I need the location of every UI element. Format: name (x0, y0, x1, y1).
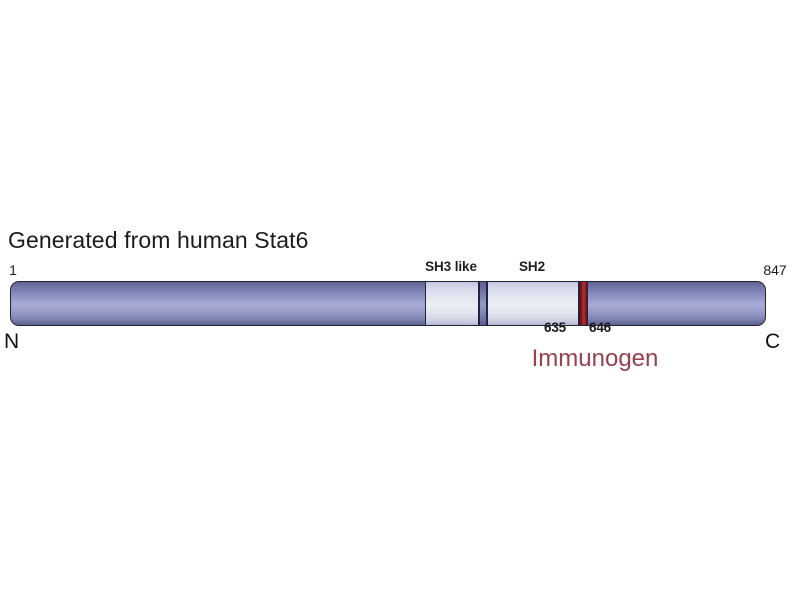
residue-end-label: 847 (755, 262, 795, 278)
immunogen-caption: Immunogen (515, 345, 675, 373)
domain-separator-slit (479, 282, 487, 325)
n-terminus-label: N (4, 330, 19, 354)
protein-domain-figure: Generated from human Stat6 1 847 SH3 lik… (0, 0, 800, 600)
domain-label-sh2: SH2 (497, 259, 567, 274)
epitope-end-residue-label: 646 (578, 320, 622, 335)
domain-label-sh3-like: SH3 like (391, 259, 511, 274)
protein-bar-container (10, 281, 766, 326)
domain-block-sh3-like (425, 282, 479, 325)
page-title: Generated from human Stat6 (8, 227, 309, 254)
residue-start-label: 1 (2, 262, 24, 278)
protein-backbone-bar (10, 281, 766, 326)
epitope-start-residue-label: 635 (533, 320, 577, 335)
c-terminus-label: C (765, 330, 780, 354)
domain-block-sh2 (487, 282, 579, 325)
immunogen-epitope-marker (579, 282, 588, 325)
